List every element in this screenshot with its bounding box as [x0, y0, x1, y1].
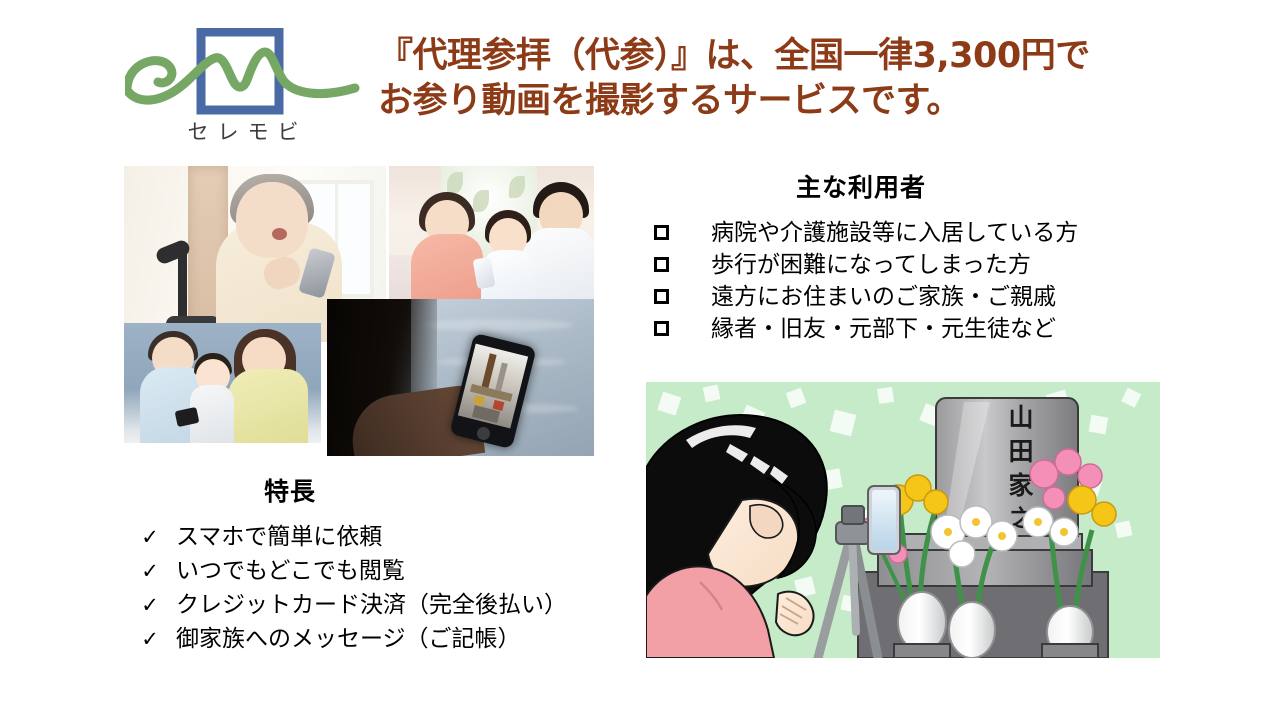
features-item-label: スマホで簡単に依頼 [176, 522, 382, 552]
features-section: 特長 ✓ スマホで簡単に依頼 ✓ いつでもどこでも閲覧 ✓ クレジットカード決済… [118, 472, 598, 658]
list-item: 病院や介護施設等に入居している方 [640, 218, 1160, 250]
list-item: ✓ スマホで簡単に依頼 [118, 522, 598, 556]
phone-screen [872, 490, 896, 550]
check-mark-icon: ✓ [140, 557, 160, 585]
check-mark-icon: ✓ [140, 591, 160, 619]
hollow-square-bullet-icon [654, 289, 669, 304]
main-users-item-label: 縁者・旧友・元部下・元生徒など [711, 314, 1056, 344]
hollow-square-bullet-icon [654, 321, 669, 336]
photo-grandmother-baby-mother [124, 323, 321, 443]
features-item-label: 御家族へのメッセージ（ご記帳） [176, 624, 521, 654]
check-mark-icon: ✓ [140, 625, 160, 653]
list-item: ✓ いつでもどこでも閲覧 [118, 556, 598, 590]
list-item: 歩行が困難になってしまった方 [640, 250, 1160, 282]
headline-text: 『代理参拝（代参）』は、全国一律3,300円で お参り動画を撮影するサービスです… [378, 34, 1168, 124]
logo-square-frame [201, 32, 279, 110]
slide-root: セレモビ 『代理参拝（代参）』は、全国一律3,300円で お参り動画を撮影するサ… [0, 0, 1280, 720]
main-users-section: 主な利用者 病院や介護施設等に入居している方 歩行が困難になってしまった方 遠方… [640, 168, 1160, 346]
main-users-item-label: 遠方にお住まいのご家族・ご親戚 [711, 282, 1056, 312]
hollow-square-bullet-icon [654, 225, 669, 240]
features-item-label: クレジットカード決済（完全後払い） [176, 590, 567, 620]
list-item: 遠方にお住まいのご家族・ご親戚 [640, 282, 1160, 314]
illustration-canvas: 山 田 家 之 [646, 382, 1160, 658]
logo-mark [125, 28, 370, 120]
gravestone-char: 田 [1008, 437, 1033, 466]
grave-visit-illustration: 山 田 家 之 [646, 382, 1160, 658]
list-item: ✓ クレジットカード決済（完全後払い） [118, 590, 598, 624]
main-users-heading: 主な利用者 [640, 168, 1160, 204]
check-mark-icon: ✓ [140, 523, 160, 551]
main-users-item-label: 病院や介護施設等に入居している方 [711, 218, 1078, 248]
hollow-square-bullet-icon [654, 257, 669, 272]
photo-family-viewing-phone [389, 166, 594, 301]
features-heading: 特長 [118, 472, 598, 508]
main-users-item-label: 歩行が困難になってしまった方 [711, 250, 1031, 280]
list-item: ✓ 御家族へのメッセージ（ご記帳） [118, 624, 598, 658]
photo-hands-filming-phone [327, 299, 594, 456]
woman-praying [646, 415, 827, 658]
features-list: ✓ スマホで簡単に依頼 ✓ いつでもどこでも閲覧 ✓ クレジットカード決済（完全… [118, 522, 598, 658]
gravestone-char: 山 [1008, 403, 1033, 432]
features-item-label: いつでもどこでも閲覧 [176, 556, 405, 586]
logo-spiral-curve [127, 61, 172, 90]
logo-wordmark: セレモビ [125, 116, 370, 146]
photo-collage [124, 166, 594, 456]
list-item: 縁者・旧友・元部下・元生徒など [640, 314, 1160, 346]
logo: セレモビ [125, 28, 370, 148]
main-users-list: 病院や介護施設等に入居している方 歩行が困難になってしまった方 遠方にお住まいの… [640, 218, 1160, 346]
